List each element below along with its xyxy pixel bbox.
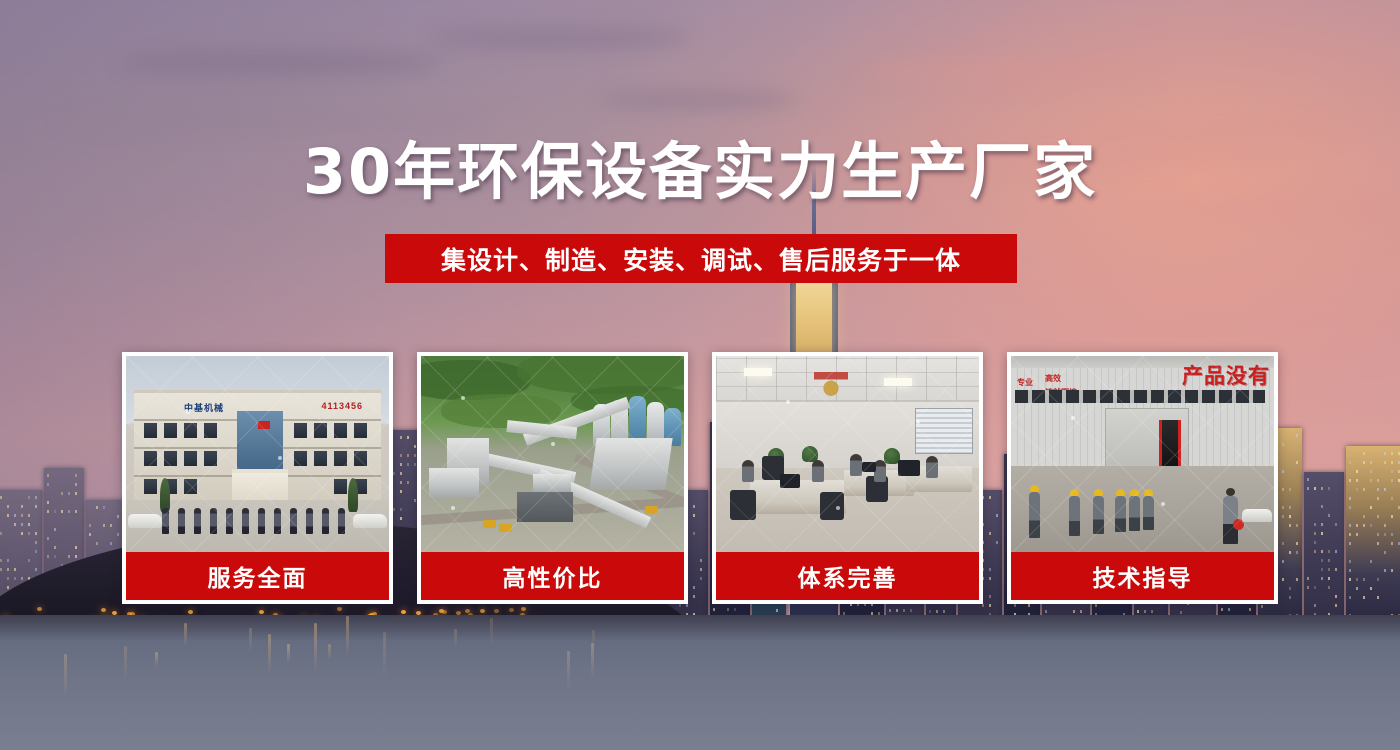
building-phone-number: 4113456 xyxy=(321,401,363,411)
factory-slogan: 专业 xyxy=(1017,378,1033,387)
feature-card-row: 中基机械 4113456 xyxy=(122,352,1278,604)
card-label: 高性价比 xyxy=(421,552,684,600)
cloud xyxy=(1080,120,1360,140)
cloud xyxy=(120,50,440,76)
building-sign-text: 中基机械 xyxy=(184,401,224,414)
factory-workers-photo: 产品没有 专业 高效 质量 铸就辉煌 xyxy=(1011,356,1274,552)
headline-area: 30年环保设备实力生产厂家 xyxy=(0,138,1400,206)
card-label: 服务全面 xyxy=(126,552,389,600)
subtitle-banner: 集设计、制造、安装、调试、售后服务于一体 xyxy=(385,234,1017,283)
cloud xyxy=(600,92,800,108)
river xyxy=(0,615,1400,750)
aerial-industrial-plant-photo xyxy=(421,356,684,552)
feature-card[interactable]: 体系完善 xyxy=(712,352,983,604)
promo-banner: 30年环保设备实力生产厂家 集设计、制造、安装、调试、售后服务于一体 中基机械 … xyxy=(0,0,1400,750)
feature-card[interactable]: 高性价比 xyxy=(417,352,688,604)
card-label: 体系完善 xyxy=(716,552,979,600)
factory-sign-text: 产品没有 xyxy=(1182,360,1270,390)
page-title: 30年环保设备实力生产厂家 xyxy=(303,138,1097,206)
feature-card[interactable]: 产品没有 专业 高效 质量 铸就辉煌 xyxy=(1007,352,1278,604)
company-office-building-photo: 中基机械 4113456 xyxy=(126,356,389,552)
cloud xyxy=(430,28,690,48)
cloud xyxy=(860,60,1160,84)
factory-slogan: 高效 xyxy=(1045,374,1061,383)
office-interior-photo xyxy=(716,356,979,552)
subtitle-text: 集设计、制造、安装、调试、售后服务于一体 xyxy=(441,241,961,277)
feature-card[interactable]: 中基机械 4113456 xyxy=(122,352,393,604)
cloud xyxy=(60,110,480,132)
card-label: 技术指导 xyxy=(1011,552,1274,600)
